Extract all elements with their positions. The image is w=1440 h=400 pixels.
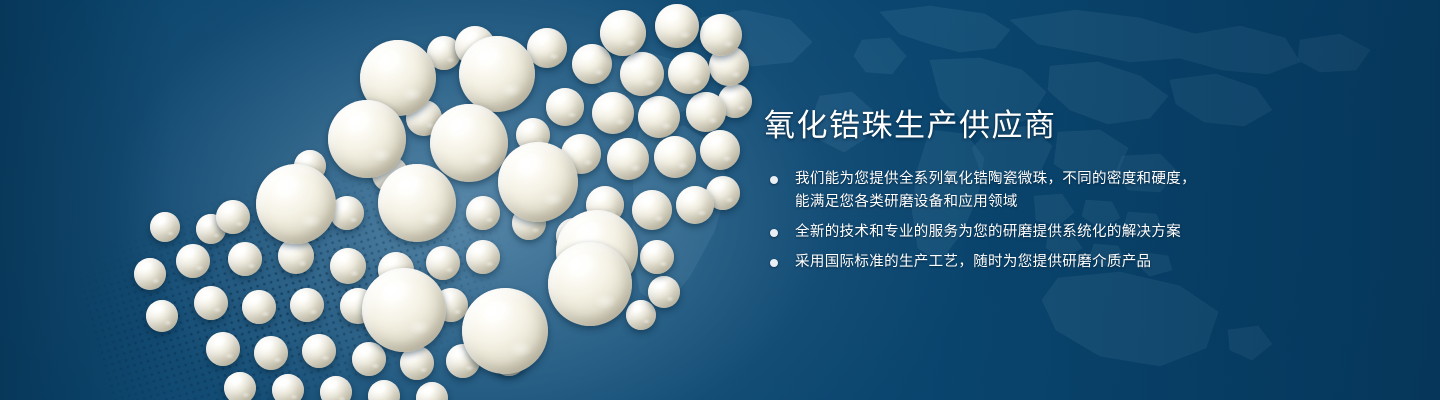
bullet-item-3-line-1: 采用国际标准的生产工艺，随时为您提供研磨介质产品 [795,254,1151,270]
bullet-item-2: 全新的技术和专业的服务为您的研磨提供系统化的解决方案 [764,221,1234,244]
bullet-item-1-line-1: 我们能为您提供全系列氧化锆陶瓷微珠，不同的密度和硬度， [795,171,1196,187]
banner-copy: 氧化锆珠生产供应商 我们能为您提供全系列氧化锆陶瓷微珠，不同的密度和硬度， 能满… [764,106,1234,281]
banner-headline: 氧化锆珠生产供应商 [764,106,1234,146]
bullet-item-2-line-1: 全新的技术和专业的服务为您的研磨提供系统化的解决方案 [795,224,1181,240]
bullet-item-1-line-2: 能满足您各类研磨设备和应用领域 [795,191,1234,214]
hero-banner: 氧化锆珠生产供应商 我们能为您提供全系列氧化锆陶瓷微珠，不同的密度和硬度， 能满… [0,0,1440,400]
bullet-dot-icon [770,259,778,267]
bullet-dot-icon [770,229,778,237]
bullet-item-1: 我们能为您提供全系列氧化锆陶瓷微珠，不同的密度和硬度， 能满足您各类研磨设备和应… [764,168,1234,214]
banner-bullet-list: 我们能为您提供全系列氧化锆陶瓷微珠，不同的密度和硬度， 能满足您各类研磨设备和应… [764,168,1234,274]
bullet-dot-icon [770,176,778,184]
bullet-item-3: 采用国际标准的生产工艺，随时为您提供研磨介质产品 [764,251,1234,274]
